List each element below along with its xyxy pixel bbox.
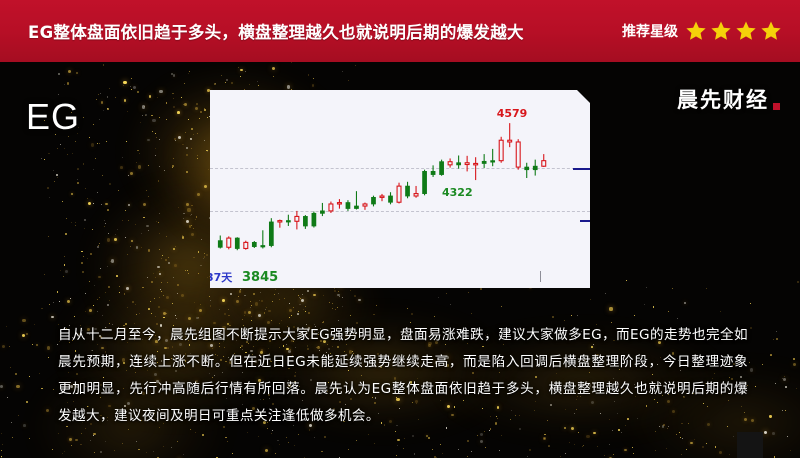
glitter-particle (119, 286, 120, 287)
glitter-particle (197, 133, 198, 134)
header-banner: EG整体盘面依旧趋于多头，横盘整理越久也就说明后期的爆发越大 推荐星级 (0, 0, 800, 62)
glitter-particle (64, 256, 65, 257)
glitter-particle (376, 305, 377, 306)
glitter-particle (684, 302, 687, 305)
glitter-particle (109, 183, 111, 185)
glitter-particle (195, 432, 196, 433)
glitter-particle (225, 437, 227, 439)
glitter-particle (679, 432, 680, 433)
glitter-particle (733, 436, 734, 437)
glitter-particle (53, 170, 54, 171)
glitter-particle (181, 97, 182, 98)
glitter-particle (240, 76, 241, 77)
glitter-particle (105, 292, 106, 293)
glitter-particle (199, 118, 200, 119)
label-period-low: 3845 (242, 270, 278, 285)
glitter-particle (149, 95, 152, 98)
glitter-particle (175, 246, 176, 247)
glitter-particle (255, 302, 258, 305)
glitter-particle (195, 219, 196, 220)
glitter-particle (75, 141, 77, 143)
glitter-particle (54, 181, 55, 182)
glitter-particle (750, 303, 751, 304)
glitter-particle (244, 315, 245, 316)
candle (303, 215, 307, 229)
glitter-particle (53, 302, 54, 303)
glitter-particle (644, 304, 645, 305)
glitter-particle (99, 297, 100, 298)
candle (235, 237, 239, 250)
glitter-particle (468, 292, 469, 293)
glitter-particle (275, 289, 276, 290)
glitter-particle (34, 324, 35, 325)
glitter-particle (154, 298, 155, 299)
glitter-particle (446, 293, 447, 294)
glitter-particle (480, 288, 482, 290)
glitter-particle (186, 203, 189, 206)
glitter-particle (198, 273, 199, 274)
label-period-high: 4579 (497, 107, 528, 120)
glitter-particle (403, 448, 404, 449)
glitter-particle (187, 270, 188, 271)
glitter-particle (140, 122, 141, 123)
glitter-particle (574, 444, 575, 445)
glitter-particle (101, 101, 104, 104)
brand-mark: 晨先财经 (677, 84, 780, 114)
glitter-particle (147, 139, 149, 141)
glitter-particle (57, 148, 58, 149)
glitter-particle (98, 94, 99, 95)
glitter-particle (681, 454, 682, 455)
glitter-particle (48, 153, 50, 155)
glitter-particle (750, 327, 752, 329)
glitter-particle (151, 313, 152, 314)
glitter-particle (131, 78, 132, 79)
glitter-particle (694, 439, 695, 440)
glitter-particle (275, 453, 276, 454)
candle (448, 158, 452, 167)
glitter-particle (75, 225, 76, 226)
glitter-particle (109, 300, 110, 301)
glitter-particle (672, 288, 673, 289)
glitter-particle (158, 222, 159, 223)
glitter-particle (101, 204, 102, 205)
candle (457, 155, 461, 168)
candle (372, 196, 376, 207)
candle (380, 194, 384, 201)
glitter-particle (118, 190, 119, 191)
glitter-particle (209, 116, 210, 117)
candle-series (210, 90, 590, 288)
glitter-particle (793, 363, 796, 366)
glitter-particle (93, 169, 94, 170)
glitter-particle (198, 251, 199, 252)
glitter-particle (569, 442, 570, 443)
glitter-particle (785, 410, 786, 411)
glitter-particle (168, 257, 169, 258)
glitter-particle (677, 318, 678, 319)
glitter-particle (782, 378, 783, 379)
glitter-particle (52, 449, 53, 450)
glitter-particle (624, 449, 626, 451)
glitter-particle (146, 452, 147, 453)
glitter-particle (299, 304, 300, 305)
glitter-particle (790, 450, 791, 451)
glitter-particle (18, 415, 19, 416)
glitter-particle (15, 373, 17, 375)
glitter-particle (148, 308, 150, 310)
glitter-particle (59, 301, 60, 302)
glitter-particle (291, 62, 292, 63)
glitter-particle (167, 282, 168, 283)
glitter-particle (706, 443, 707, 444)
glitter-particle (97, 299, 98, 300)
glitter-particle (324, 436, 325, 437)
glitter-particle (47, 346, 50, 349)
glitter-particle (313, 78, 314, 79)
glitter-particle (544, 438, 545, 439)
glitter-particle (87, 258, 88, 259)
banner-headline: EG整体盘面依旧趋于多头，横盘整理越久也就说明后期的爆发越大 (28, 19, 524, 43)
glitter-particle (397, 439, 399, 441)
glitter-particle (124, 99, 127, 102)
glitter-particle (633, 453, 634, 454)
glitter-particle (60, 144, 61, 145)
glitter-particle (762, 364, 763, 365)
glitter-particle (204, 256, 206, 258)
glitter-particle (609, 444, 610, 445)
glitter-particle (293, 307, 294, 308)
glitter-particle (432, 449, 433, 450)
glitter-particle (207, 117, 208, 118)
glitter-particle (56, 174, 58, 176)
candle (397, 183, 401, 204)
glitter-particle (99, 243, 100, 244)
glitter-particle (604, 455, 605, 456)
rating-group: 推荐星级 (622, 20, 782, 42)
glitter-particle (97, 311, 98, 312)
glitter-particle (414, 453, 416, 455)
candle (414, 186, 418, 198)
glitter-particle (374, 443, 375, 444)
glitter-particle (130, 246, 131, 247)
glitter-particle (71, 222, 72, 223)
glitter-particle (142, 105, 146, 109)
glitter-particle (202, 434, 204, 436)
glitter-particle (114, 238, 117, 241)
glitter-particle (94, 452, 95, 453)
glitter-particle (680, 437, 681, 438)
glitter-particle (342, 71, 343, 72)
glitter-particle (249, 84, 250, 85)
glitter-particle (183, 454, 184, 455)
candle (337, 199, 341, 209)
glitter-particle (127, 111, 128, 112)
glitter-particle (159, 297, 160, 298)
glitter-particle (135, 224, 136, 225)
glitter-particle (287, 85, 290, 88)
glitter-particle (484, 431, 485, 432)
glitter-particle (172, 165, 174, 167)
glitter-particle (68, 70, 71, 73)
glitter-particle (72, 153, 73, 154)
glitter-particle (51, 316, 54, 319)
glitter-particle (10, 367, 11, 368)
glitter-particle (302, 294, 303, 295)
glitter-particle (499, 450, 500, 451)
glitter-particle (81, 262, 83, 264)
glitter-particle (485, 447, 486, 448)
glitter-particle (348, 80, 349, 81)
glitter-particle (136, 441, 137, 442)
glitter-particle (155, 148, 156, 149)
glitter-particle (188, 119, 189, 120)
glitter-particle (321, 451, 322, 452)
glitter-particle (99, 119, 100, 120)
candle (389, 192, 393, 204)
glitter-particle (137, 150, 139, 152)
glitter-particle (769, 415, 771, 417)
glitter-particle (159, 166, 160, 167)
glitter-particle (247, 432, 248, 433)
glitter-particle (64, 84, 65, 85)
glitter-particle (250, 307, 251, 308)
glitter-particle (191, 205, 192, 206)
glitter-particle (186, 171, 188, 173)
candle (269, 218, 273, 247)
glitter-particle (165, 259, 167, 261)
candle (312, 212, 316, 228)
glitter-particle (77, 179, 78, 180)
glitter-particle (298, 434, 299, 435)
glitter-particle (128, 220, 129, 221)
candle (227, 236, 231, 249)
glitter-particle (191, 233, 194, 236)
glitter-particle (251, 320, 252, 321)
star-icon (760, 20, 782, 42)
glitter-particle (102, 175, 103, 176)
glitter-particle (64, 264, 65, 265)
glitter-particle (159, 117, 160, 118)
candle (261, 230, 265, 248)
glitter-particle (77, 168, 79, 170)
glitter-particle (107, 304, 109, 306)
glitter-particle (177, 111, 180, 114)
glitter-particle (115, 97, 116, 98)
glitter-particle (128, 175, 129, 176)
candle (431, 165, 435, 177)
glitter-particle (63, 276, 64, 277)
glitter-particle (173, 74, 176, 77)
glitter-particle (102, 315, 103, 316)
glitter-particle (197, 193, 200, 196)
glitter-particle (136, 162, 137, 163)
glitter-particle (75, 222, 76, 223)
glitter-particle (83, 256, 84, 257)
glitter-particle (188, 73, 189, 74)
glitter-particle (682, 438, 683, 439)
glitter-particle (107, 209, 109, 211)
glitter-particle (796, 388, 797, 389)
glitter-particle (258, 436, 259, 437)
glitter-particle (164, 170, 165, 171)
candle (474, 157, 478, 180)
glitter-particle (64, 148, 65, 149)
glitter-particle (36, 344, 39, 347)
glitter-particle (185, 132, 186, 133)
glitter-particle (97, 192, 98, 193)
glitter-particle (208, 169, 209, 170)
glitter-particle (308, 312, 310, 314)
glitter-particle (183, 218, 184, 219)
glitter-particle (6, 326, 7, 327)
glitter-particle (278, 293, 279, 294)
glitter-particle (621, 432, 622, 433)
glitter-particle (93, 203, 94, 204)
glitter-particle (238, 67, 239, 68)
glitter-particle (0, 385, 3, 388)
glitter-particle (471, 313, 472, 314)
glitter-particle (136, 314, 137, 315)
glitter-particle (279, 299, 280, 300)
glitter-particle (266, 307, 267, 308)
glitter-particle (187, 208, 190, 211)
candle (278, 220, 282, 228)
glitter-particle (173, 158, 174, 159)
glitter-particle (188, 273, 189, 274)
glitter-particle (65, 233, 67, 235)
glitter-particle (289, 303, 290, 304)
glitter-particle (571, 315, 572, 316)
glitter-particle (207, 277, 208, 278)
glitter-particle (258, 85, 259, 86)
glitter-particle (32, 344, 33, 345)
glitter-particle (586, 435, 590, 439)
glitter-particle (119, 292, 120, 293)
axis-tick (540, 271, 541, 282)
glitter-particle (108, 286, 110, 288)
glitter-particle (706, 288, 707, 289)
glitter-particle (577, 315, 578, 316)
glitter-particle (552, 316, 554, 318)
glitter-particle (155, 133, 156, 134)
glitter-particle (227, 441, 228, 442)
glitter-particle (314, 437, 315, 438)
glitter-particle (715, 446, 716, 447)
glitter-particle (204, 253, 205, 254)
glitter-particle (67, 154, 68, 155)
analysis-paragraph: 自从十二月至今，晨先组图不断提示大家EG强势明显，盘面易涨难跌，建议大家做多EG… (58, 322, 748, 430)
candle (286, 215, 290, 226)
brand-name: 晨先财经 (677, 84, 769, 114)
glitter-particle (395, 431, 396, 432)
candlestick-chart[interactable]: 4579 4322 37天 3845 (210, 90, 590, 288)
glitter-particle (204, 109, 206, 111)
glitter-particle (152, 131, 153, 132)
glitter-particle (634, 315, 635, 316)
glitter-particle (139, 153, 140, 154)
glitter-particle (100, 451, 101, 452)
glitter-particle (100, 93, 101, 94)
glitter-particle (776, 338, 778, 340)
glitter-particle (111, 259, 115, 263)
glitter-particle (286, 437, 287, 438)
glitter-particle (770, 354, 772, 356)
glitter-particle (686, 449, 687, 450)
glitter-particle (609, 307, 612, 310)
glitter-particle (95, 158, 96, 159)
glitter-particle (125, 210, 126, 211)
glitter-particle (191, 214, 192, 215)
glitter-particle (284, 298, 285, 299)
glitter-particle (130, 86, 131, 87)
glitter-particle (471, 451, 472, 452)
glitter-particle (147, 277, 148, 278)
glitter-particle (191, 225, 192, 226)
glitter-particle (272, 301, 273, 302)
glitter-particle (613, 454, 614, 455)
glitter-particle (123, 85, 124, 86)
corner-block (737, 432, 763, 458)
glitter-particle (404, 438, 405, 439)
glitter-particle (653, 306, 655, 308)
glitter-particle (84, 219, 86, 221)
glitter-particle (308, 74, 310, 76)
glitter-particle (668, 311, 669, 312)
glitter-particle (172, 93, 174, 95)
glitter-particle (135, 304, 136, 305)
glitter-particle (189, 71, 190, 72)
glitter-particle (265, 309, 266, 310)
glitter-particle (133, 86, 136, 89)
brand-dot-icon (773, 103, 780, 110)
glitter-particle (67, 300, 70, 303)
glitter-particle (44, 159, 45, 160)
glitter-particle (53, 389, 54, 390)
candle (542, 154, 546, 167)
glitter-particle (83, 117, 84, 118)
glitter-particle (157, 97, 158, 98)
glitter-particle (215, 83, 216, 84)
glitter-particle (49, 197, 50, 198)
glitter-particle (2, 345, 5, 348)
glitter-particle (41, 158, 42, 159)
glitter-particle (172, 167, 173, 168)
candle (218, 235, 222, 248)
glitter-particle (171, 447, 172, 448)
glitter-particle (146, 225, 148, 227)
glitter-particle (69, 438, 71, 440)
glitter-particle (776, 331, 777, 332)
star-icon (735, 20, 757, 42)
glitter-particle (204, 140, 205, 141)
glitter-particle (23, 424, 26, 427)
candle (465, 156, 469, 172)
glitter-particle (47, 187, 49, 189)
glitter-particle (582, 446, 583, 447)
glitter-particle (438, 297, 439, 298)
glitter-particle (305, 311, 306, 312)
glitter-particle (159, 90, 162, 93)
glitter-particle (196, 216, 198, 218)
glitter-particle (334, 288, 335, 289)
glitter-particle (196, 103, 198, 105)
chart-plot-area: 4579 4322 37天 3845 (210, 90, 590, 288)
glitter-particle (181, 294, 184, 297)
glitter-particle (188, 317, 191, 320)
glitter-particle (245, 71, 246, 72)
candle (244, 241, 248, 250)
